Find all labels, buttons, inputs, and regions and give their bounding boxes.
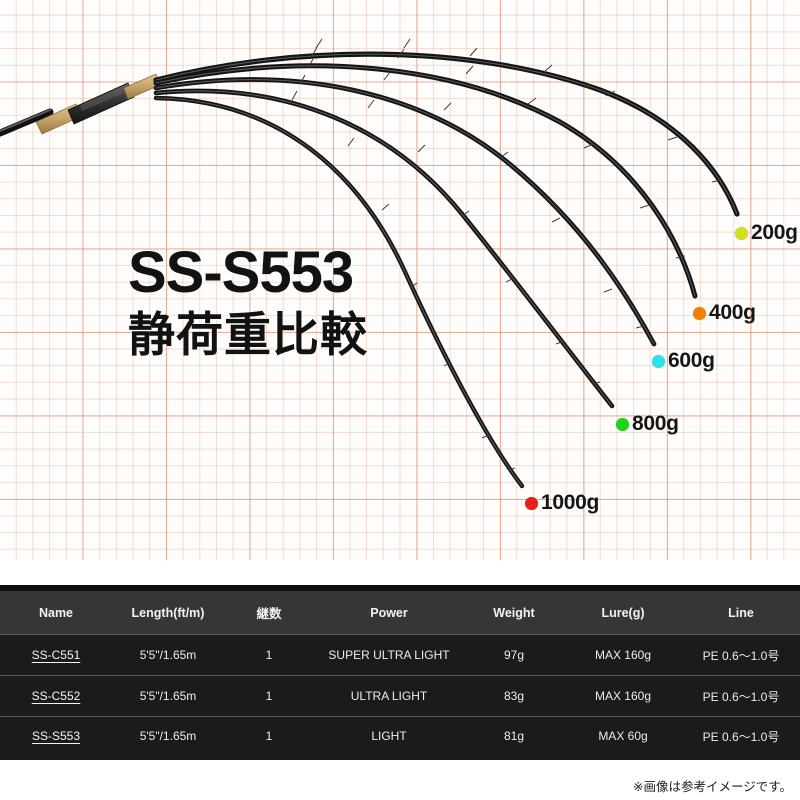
- page-subtitle: 静荷重比較: [128, 309, 368, 363]
- marker-dot-200g: [735, 227, 748, 240]
- column-header-length: Length(ft/m): [112, 588, 224, 635]
- cell-line: PE 0.6～1.0号: [682, 717, 800, 758]
- load-marker-600g: 600g: [652, 349, 715, 373]
- table-row: SS-S553 5'5"/1.65m 1 LIGHT 81g MAX 60g P…: [0, 717, 800, 758]
- cell-line: PE 0.6～1.0号: [682, 676, 800, 717]
- rod-bend-graph-panel: SS-S553 静荷重比較 200g 400g 600g 800g 1000g: [0, 0, 800, 560]
- cell-power: ULTRA LIGHT: [314, 676, 464, 717]
- rod-bend-illustration: [0, 0, 800, 560]
- product-spec-page: SS-S553 静荷重比較 200g 400g 600g 800g 1000g: [0, 0, 800, 800]
- cell-joints: 1: [224, 635, 314, 676]
- column-header-power: Power: [314, 588, 464, 635]
- spec-table-body: SS-C551 5'5"/1.65m 1 SUPER ULTRA LIGHT 9…: [0, 635, 800, 758]
- model-link-ss-s553[interactable]: SS-S553: [32, 729, 80, 743]
- load-marker-400g: 400g: [693, 301, 756, 325]
- spec-table: Name Length(ft/m) 継数 Power Weight Lure(g…: [0, 585, 800, 760]
- cell-power: LIGHT: [314, 717, 464, 758]
- cell-joints: 1: [224, 676, 314, 717]
- spec-table-header: Name Length(ft/m) 継数 Power Weight Lure(g…: [0, 588, 800, 635]
- table-row: SS-C552 5'5"/1.65m 1 ULTRA LIGHT 83g MAX…: [0, 676, 800, 717]
- rod-curve-200g: [156, 39, 737, 214]
- cell-lure: MAX 160g: [564, 635, 682, 676]
- footnote: ※画像は参考イメージです。: [633, 776, 792, 795]
- load-marker-1000g: 1000g: [525, 491, 599, 515]
- model-link-ss-c551[interactable]: SS-C551: [32, 648, 81, 662]
- marker-label-1000g: 1000g: [541, 491, 599, 515]
- marker-dot-600g: [652, 355, 665, 368]
- column-header-line: Line: [682, 588, 800, 635]
- column-header-name: Name: [0, 588, 112, 635]
- marker-label-800g: 800g: [632, 412, 679, 436]
- cell-name[interactable]: SS-S553: [0, 717, 112, 758]
- cell-length: 5'5"/1.65m: [112, 676, 224, 717]
- cell-line: PE 0.6～1.0号: [682, 635, 800, 676]
- marker-dot-1000g: [525, 497, 538, 510]
- load-marker-800g: 800g: [616, 412, 679, 436]
- cell-name[interactable]: SS-C551: [0, 635, 112, 676]
- cell-weight: 97g: [464, 635, 564, 676]
- cell-weight: 81g: [464, 717, 564, 758]
- page-title: SS-S553: [128, 244, 368, 302]
- load-marker-200g: 200g: [735, 221, 798, 245]
- column-header-weight: Weight: [464, 588, 564, 635]
- cell-joints: 1: [224, 717, 314, 758]
- cell-weight: 83g: [464, 676, 564, 717]
- marker-label-400g: 400g: [709, 301, 756, 325]
- cell-name[interactable]: SS-C552: [0, 676, 112, 717]
- cell-lure: MAX 60g: [564, 717, 682, 758]
- column-header-joints: 継数: [224, 588, 314, 635]
- cell-length: 5'5"/1.65m: [112, 635, 224, 676]
- marker-dot-800g: [616, 418, 629, 431]
- table-row: SS-C551 5'5"/1.65m 1 SUPER ULTRA LIGHT 9…: [0, 635, 800, 676]
- marker-label-600g: 600g: [668, 349, 715, 373]
- cell-lure: MAX 160g: [564, 676, 682, 717]
- column-header-lure: Lure(g): [564, 588, 682, 635]
- model-link-ss-c552[interactable]: SS-C552: [32, 689, 81, 703]
- cell-length: 5'5"/1.65m: [112, 717, 224, 758]
- table-header-row: Name Length(ft/m) 継数 Power Weight Lure(g…: [0, 588, 800, 635]
- marker-label-200g: 200g: [751, 221, 798, 245]
- marker-dot-400g: [693, 307, 706, 320]
- cell-power: SUPER ULTRA LIGHT: [314, 635, 464, 676]
- title-block: SS-S553 静荷重比較: [128, 244, 368, 363]
